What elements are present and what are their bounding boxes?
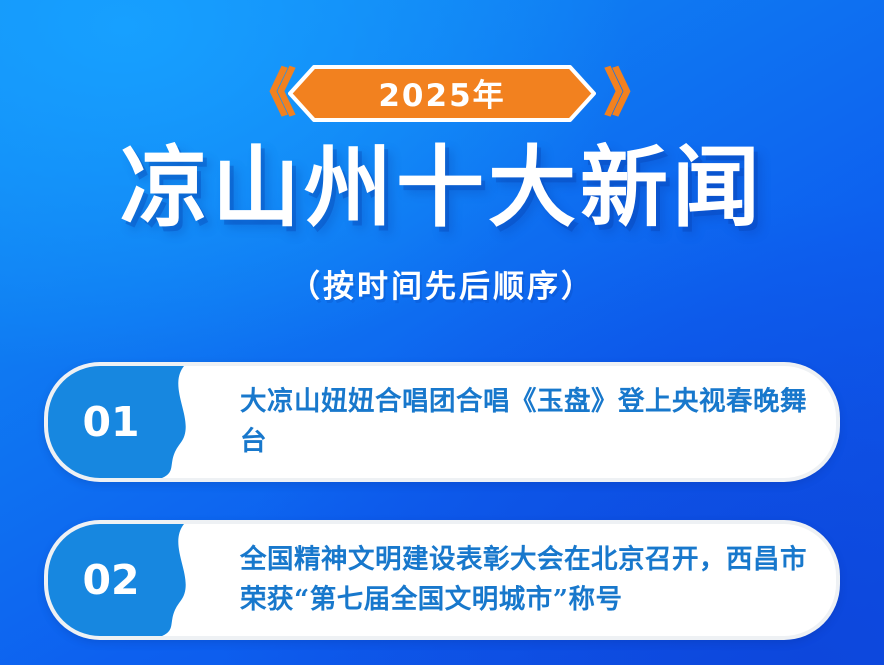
news-headline: 大凉山妞妞合唱团合唱《玉盘》登上央视春晚舞台 [240,366,836,478]
news-number-label: 02 [56,524,166,636]
chevron-left-icon: 《 [245,68,279,118]
year-banner-row: 《 2025年 》 [0,57,884,129]
news-card-inner: 02 全国精神文明建设表彰大会在北京召开，西昌市荣获“第七届全国文明城市”称号 [48,524,836,636]
chevron-right-icon: 》 [605,68,639,118]
page-title: 凉山州十大新闻 [0,138,884,238]
news-item-02[interactable]: 02 全国精神文明建设表彰大会在北京召开，西昌市荣获“第七届全国文明城市”称号 [44,520,840,640]
news-headline: 全国精神文明建设表彰大会在北京召开，西昌市荣获“第七届全国文明城市”称号 [240,524,836,636]
news-item-01[interactable]: 01 大凉山妞妞合唱团合唱《玉盘》登上央视春晚舞台 [44,362,840,482]
year-banner-label: 2025年 [288,65,596,122]
page-subtitle: （按时间先后顺序） [0,265,884,309]
news-card-inner: 01 大凉山妞妞合唱团合唱《玉盘》登上央视春晚舞台 [48,366,836,478]
news-number-badge: 01 [48,366,248,478]
news-number-badge: 02 [48,524,248,636]
poster-root: 《 2025年 》 凉山州十大新闻 （按时间先后顺序） 01 大凉山妞妞合唱团合… [0,0,884,665]
news-list: 01 大凉山妞妞合唱团合唱《玉盘》登上央视春晚舞台 02 全国精神文明建设表彰大… [44,362,840,665]
year-banner: 2025年 [288,65,596,122]
news-number-label: 01 [56,366,166,478]
